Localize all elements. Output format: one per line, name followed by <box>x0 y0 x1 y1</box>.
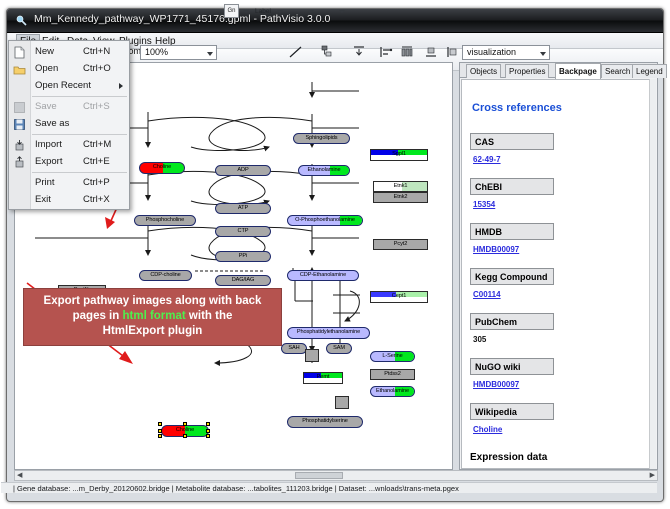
chevron-down-icon <box>207 52 213 56</box>
scrollbar-thumb[interactable] <box>295 472 343 479</box>
node-label: Phosphatidylethanolamine <box>297 330 360 336</box>
stack-tool-button[interactable] <box>445 45 459 59</box>
gene-node[interactable] <box>305 349 319 362</box>
cross-reference-db-header: HMDB <box>470 223 554 240</box>
menu-item-export[interactable]: Export Ctrl+E <box>9 154 131 171</box>
node-label: Phosphocholine <box>146 218 184 224</box>
menu-item-save-as-label: Save as <box>35 118 69 129</box>
selection-handle[interactable] <box>206 429 210 433</box>
metabolite-node[interactable]: CDP-choline <box>139 270 192 281</box>
node-label: ATP <box>238 206 248 212</box>
selection-handle[interactable] <box>206 422 210 426</box>
cross-reference-value: 305 <box>473 335 486 344</box>
cross-reference-link[interactable]: HMDB00097 <box>473 380 519 389</box>
gene-node[interactable]: Ptdss2 <box>370 369 415 380</box>
interaction-dropdown-icon[interactable] <box>339 10 345 13</box>
scroll-right-icon[interactable]: ▶ <box>650 473 655 479</box>
node-label: Ethanolamine <box>376 389 409 395</box>
cross-reference-db-header: ChEBI <box>470 178 554 195</box>
node-label: CDP-choline <box>150 273 180 279</box>
line-dropdown-icon[interactable] <box>308 10 314 13</box>
menu-item-exit-label: Exit <box>35 194 51 205</box>
node-label: ADP <box>237 168 248 174</box>
tab-objects[interactable]: Objects <box>466 64 501 78</box>
metabolite-node[interactable]: Sphingolipids <box>293 133 350 144</box>
node-label: CDP-Ethanolamine <box>300 273 346 279</box>
tab-backpage[interactable]: Backpage <box>555 63 601 79</box>
selection-handle[interactable] <box>158 422 162 426</box>
menu-item-print[interactable]: Print Ctrl+P <box>9 175 131 192</box>
menu-item-open[interactable]: Open Ctrl+O <box>9 61 131 78</box>
menu-item-new[interactable]: New Ctrl+N <box>9 44 131 61</box>
metabolite-node[interactable]: Ethanolamine <box>370 386 415 397</box>
export-icon <box>13 156 26 169</box>
node-label: SAM <box>333 346 345 352</box>
menu-item-export-accel: Ctrl+E <box>83 156 110 167</box>
cross-reference-db-header: PubChem <box>470 313 554 330</box>
menu-item-save-label: Save <box>35 101 57 112</box>
selection-handle[interactable] <box>158 429 162 433</box>
menu-item-import-label: Import <box>35 139 62 150</box>
callout-line-3: HtmlExport plugin <box>24 324 281 339</box>
menu-item-new-accel: Ctrl+N <box>83 46 110 57</box>
cross-reference-db-header: Wikipedia <box>470 403 554 420</box>
selection-handle[interactable] <box>206 434 210 438</box>
cross-reference-db-header: Kegg Compound <box>470 268 554 285</box>
selection-handle[interactable] <box>158 434 162 438</box>
status-bar: | Gene database: ...m_Derby_20120602.bri… <box>1 482 657 493</box>
cross-reference-db-header: NuGO wiki <box>470 358 554 375</box>
backpage-content: Cross references CAS62-49-7ChEBI15354HMD… <box>461 79 651 469</box>
window-title: Mm_Kennedy_pathway_WP1771_45176.gpml - P… <box>34 13 330 25</box>
metabolite-node[interactable]: ADP <box>215 165 271 176</box>
horizontal-scrollbar[interactable]: ◀ ▶ <box>14 470 658 481</box>
metabolite-node[interactable]: Ethanolamine <box>298 165 350 176</box>
metabolite-node[interactable]: Phosphatidylserine <box>287 416 363 428</box>
metabolite-node[interactable]: SAM <box>326 343 352 354</box>
side-panel-tabs: Objects Properties Backpage Search Legen… <box>460 63 657 78</box>
line-tool-button[interactable] <box>289 46 303 58</box>
menu-item-print-label: Print <box>35 177 55 188</box>
node-label: O-Phosphoethanolamine <box>295 218 355 224</box>
file-menu-dropdown[interactable]: New Ctrl+N Open Ctrl+O Open Recent Save … <box>8 40 130 210</box>
callout-line-2: pages in html format with the <box>24 309 281 324</box>
menu-item-open-recent-label: Open Recent <box>35 80 91 91</box>
cross-reference-link[interactable]: 62-49-7 <box>473 155 501 164</box>
callout-line-1: Export pathway images along with back <box>24 294 281 309</box>
metabolite-node[interactable]: CDP-Ethanolamine <box>287 270 359 281</box>
expression-data-heading: Expression data <box>470 452 547 463</box>
gene-node[interactable] <box>335 396 349 409</box>
gene-node[interactable]: Etnk2 <box>373 192 428 203</box>
gene-node[interactable]: Sgpl1 <box>370 149 428 161</box>
new-document-icon <box>13 46 26 59</box>
menu-item-export-label: Export <box>35 156 62 167</box>
save-disabled-icon <box>13 101 26 114</box>
datanode-dropdown-icon[interactable] <box>243 10 249 13</box>
pathvisio-icon <box>16 15 28 27</box>
selection-handle[interactable] <box>183 422 187 426</box>
callout-line-2a: pages in <box>73 310 123 322</box>
metabolite-node[interactable]: DAG/IAG <box>215 275 271 286</box>
node-label: Choline <box>176 428 194 434</box>
metabolite-node[interactable]: SAH <box>281 343 307 354</box>
node-label: Phosphatidylserine <box>302 419 347 425</box>
menu-item-new-label: New <box>35 46 54 57</box>
tab-properties[interactable]: Properties <box>505 64 549 78</box>
label-dropdown-icon[interactable] <box>277 10 283 13</box>
node-label: Etnk2 <box>394 195 408 201</box>
node-label: Pemt <box>317 375 330 381</box>
menu-item-exit[interactable]: Exit Ctrl+X <box>9 192 131 209</box>
node-label: CTP <box>238 229 249 235</box>
gene-node[interactable]: Etnk1 <box>373 181 428 192</box>
node-label: Cept1 <box>392 294 406 300</box>
node-label: SAH <box>288 346 299 352</box>
node-label: Ptdss2 <box>384 372 401 378</box>
menu-item-import-accel: Ctrl+M <box>83 139 111 150</box>
metabolite-node[interactable]: CTP <box>215 226 271 237</box>
tab-search[interactable]: Search <box>601 64 634 78</box>
menu-item-open-accel: Ctrl+O <box>83 63 111 74</box>
align-left-tool-button[interactable] <box>379 45 393 59</box>
cross-reference-db-header: CAS <box>470 133 554 150</box>
tab-legend[interactable]: Legend <box>632 64 667 78</box>
side-panel: Objects Properties Backpage Search Legen… <box>459 62 658 470</box>
selection-handle[interactable] <box>183 434 187 438</box>
group-tool-button[interactable] <box>424 45 438 59</box>
menu-item-save-as[interactable]: Save as <box>9 116 131 133</box>
gene-node[interactable]: Pemt <box>303 372 343 384</box>
menu-separator <box>32 172 127 173</box>
node-label: Sphingolipids <box>306 136 338 142</box>
metabolite-node[interactable]: ATP <box>215 203 271 214</box>
cross-reference-link[interactable]: HMDB00097 <box>473 245 519 254</box>
node-label: Sgpl1 <box>392 152 406 158</box>
label-tool-button[interactable]: Label <box>255 8 271 15</box>
metabolite-node[interactable]: Phosphatidylethanolamine <box>287 327 370 339</box>
node-label: Etnk1 <box>394 184 408 190</box>
datanode-tool-button[interactable]: Gn <box>224 4 239 18</box>
visualization-value: visualization <box>467 47 516 57</box>
align-top-tool-button[interactable] <box>352 45 366 59</box>
node-label: L-Serine <box>382 354 402 360</box>
chevron-down-icon <box>540 52 546 56</box>
menu-separator <box>32 96 127 97</box>
node-label: Choline <box>153 165 171 171</box>
submenu-arrow-icon <box>119 83 123 89</box>
node-label: PPi <box>239 254 247 260</box>
scroll-left-icon[interactable]: ◀ <box>17 473 22 479</box>
menu-item-open-label: Open <box>35 63 58 74</box>
open-folder-icon <box>13 63 26 76</box>
metabolite-node[interactable]: PPi <box>215 251 271 262</box>
import-icon <box>13 139 26 152</box>
interaction-tool-button[interactable] <box>320 45 334 59</box>
gene-node[interactable]: Cept1 <box>370 291 428 303</box>
node-label: Pcyt2 <box>394 242 408 248</box>
menu-item-open-recent[interactable]: Open Recent <box>9 78 131 95</box>
menu-item-exit-accel: Ctrl+X <box>83 194 110 205</box>
metabolite-node[interactable]: Choline <box>139 162 185 174</box>
callout-line-2b: with the <box>186 310 233 322</box>
annotation-callout: Export pathway images along with back pa… <box>23 288 282 346</box>
cross-reference-link[interactable]: C00114 <box>473 290 501 299</box>
metabolite-node[interactable]: O-Phosphoethanolamine <box>287 215 363 226</box>
gene-node[interactable]: Pcyt2 <box>373 239 428 250</box>
metabolite-node[interactable]: Phosphocholine <box>134 215 196 226</box>
datanode-icon: Gn <box>227 8 235 14</box>
distribute-tool-button[interactable] <box>400 45 414 59</box>
backpage-scrollbar[interactable] <box>649 79 656 469</box>
cross-reference-link[interactable]: Choline <box>473 425 502 434</box>
save-as-icon <box>13 118 26 131</box>
visualization-combo[interactable]: visualization <box>462 45 550 60</box>
callout-highlight: html format <box>122 310 185 322</box>
menu-item-import[interactable]: Import Ctrl+M <box>9 137 131 154</box>
node-label: DAG/IAG <box>232 278 255 284</box>
metabolite-node[interactable]: L-Serine <box>370 351 415 362</box>
node-label: Ethanolamine <box>307 168 340 174</box>
menu-item-save: Save Ctrl+S <box>9 99 131 116</box>
backpage-heading: Cross references <box>472 102 562 114</box>
screenshot-root: Mm_Kennedy_pathway_WP1771_45176.gpml - P… <box>0 0 670 509</box>
cross-reference-link[interactable]: 15354 <box>473 200 495 209</box>
title-bar: Mm_Kennedy_pathway_WP1771_45176.gpml - P… <box>7 9 663 33</box>
zoom-combo[interactable]: 100% <box>140 45 217 60</box>
menu-item-save-accel: Ctrl+S <box>83 101 110 112</box>
menu-item-print-accel: Ctrl+P <box>83 177 110 188</box>
zoom-value: 100% <box>145 47 168 57</box>
menu-separator <box>32 134 127 135</box>
